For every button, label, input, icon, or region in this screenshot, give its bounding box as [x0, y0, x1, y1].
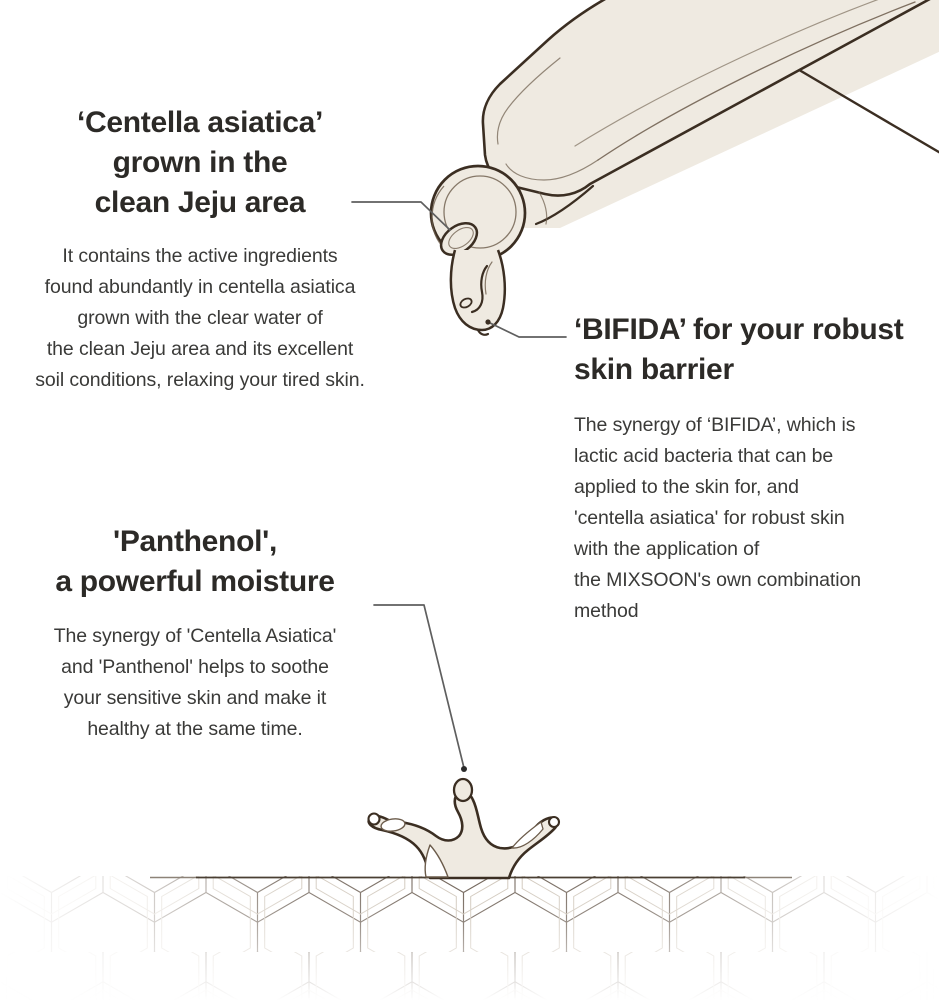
panthenol-heading: 'Panthenol', a powerful moisture [0, 522, 390, 602]
centella-body: It contains the active ingredients found… [0, 241, 400, 396]
panthenol-body-line-2: and 'Panthenol' helps to soothe [0, 652, 390, 683]
bifida-heading-line-1: ‘BIFIDA’ for your robust [574, 310, 939, 350]
liquid-splash [369, 779, 560, 878]
dropper-pipette [431, 0, 939, 335]
centella-body-line-3: grown with the clear water of [0, 303, 400, 334]
section-panthenol: 'Panthenol', a powerful moisture The syn… [0, 522, 390, 745]
section-bifida: ‘BIFIDA’ for your robust skin barrier Th… [574, 310, 939, 627]
bifida-body-line-7: method [574, 596, 939, 627]
centella-heading-line-2: grown in the [14, 143, 386, 183]
bifida-body-line-6: the MIXSOON's own combination [574, 565, 939, 596]
centella-body-line-4: the clean Jeju area and its excellent [0, 334, 400, 365]
panthenol-body-line-4: healthy at the same time. [0, 714, 390, 745]
bifida-heading: ‘BIFIDA’ for your robust skin barrier [574, 310, 939, 390]
panthenol-body-line-1: The synergy of 'Centella Asiatica' [0, 621, 390, 652]
panthenol-body: The synergy of 'Centella Asiatica' and '… [0, 621, 390, 745]
bifida-body: The synergy of ‘BIFIDA’, which is lactic… [574, 410, 939, 627]
bifida-heading-line-2: skin barrier [574, 350, 939, 390]
centella-heading-line-1: ‘Centella asiatica’ [14, 103, 386, 143]
panthenol-heading-line-2: a powerful moisture [0, 562, 390, 602]
centella-heading: ‘Centella asiatica’ grown in the clean J… [0, 103, 400, 223]
section-centella: ‘Centella asiatica’ grown in the clean J… [0, 103, 400, 396]
bifida-body-line-1: The synergy of ‘BIFIDA’, which is [574, 410, 939, 441]
panthenol-heading-line-1: 'Panthenol', [0, 522, 390, 562]
centella-body-line-2: found abundantly in centella asiatica [0, 272, 400, 303]
bifida-body-line-5: with the application of [574, 534, 939, 565]
infographic-canvas: ‘Centella asiatica’ grown in the clean J… [0, 0, 939, 1000]
centella-heading-line-3: clean Jeju area [14, 183, 386, 223]
bifida-body-line-4: 'centella asiatica' for robust skin [574, 503, 939, 534]
centella-body-line-5: soil conditions, relaxing your tired ski… [0, 365, 400, 396]
panthenol-body-line-3: your sensitive skin and make it [0, 683, 390, 714]
honeycomb-skin-barrier [0, 876, 939, 1000]
bifida-body-line-3: applied to the skin for, and [574, 472, 939, 503]
bifida-body-line-2: lactic acid bacteria that can be [574, 441, 939, 472]
centella-body-line-1: It contains the active ingredients [0, 241, 400, 272]
